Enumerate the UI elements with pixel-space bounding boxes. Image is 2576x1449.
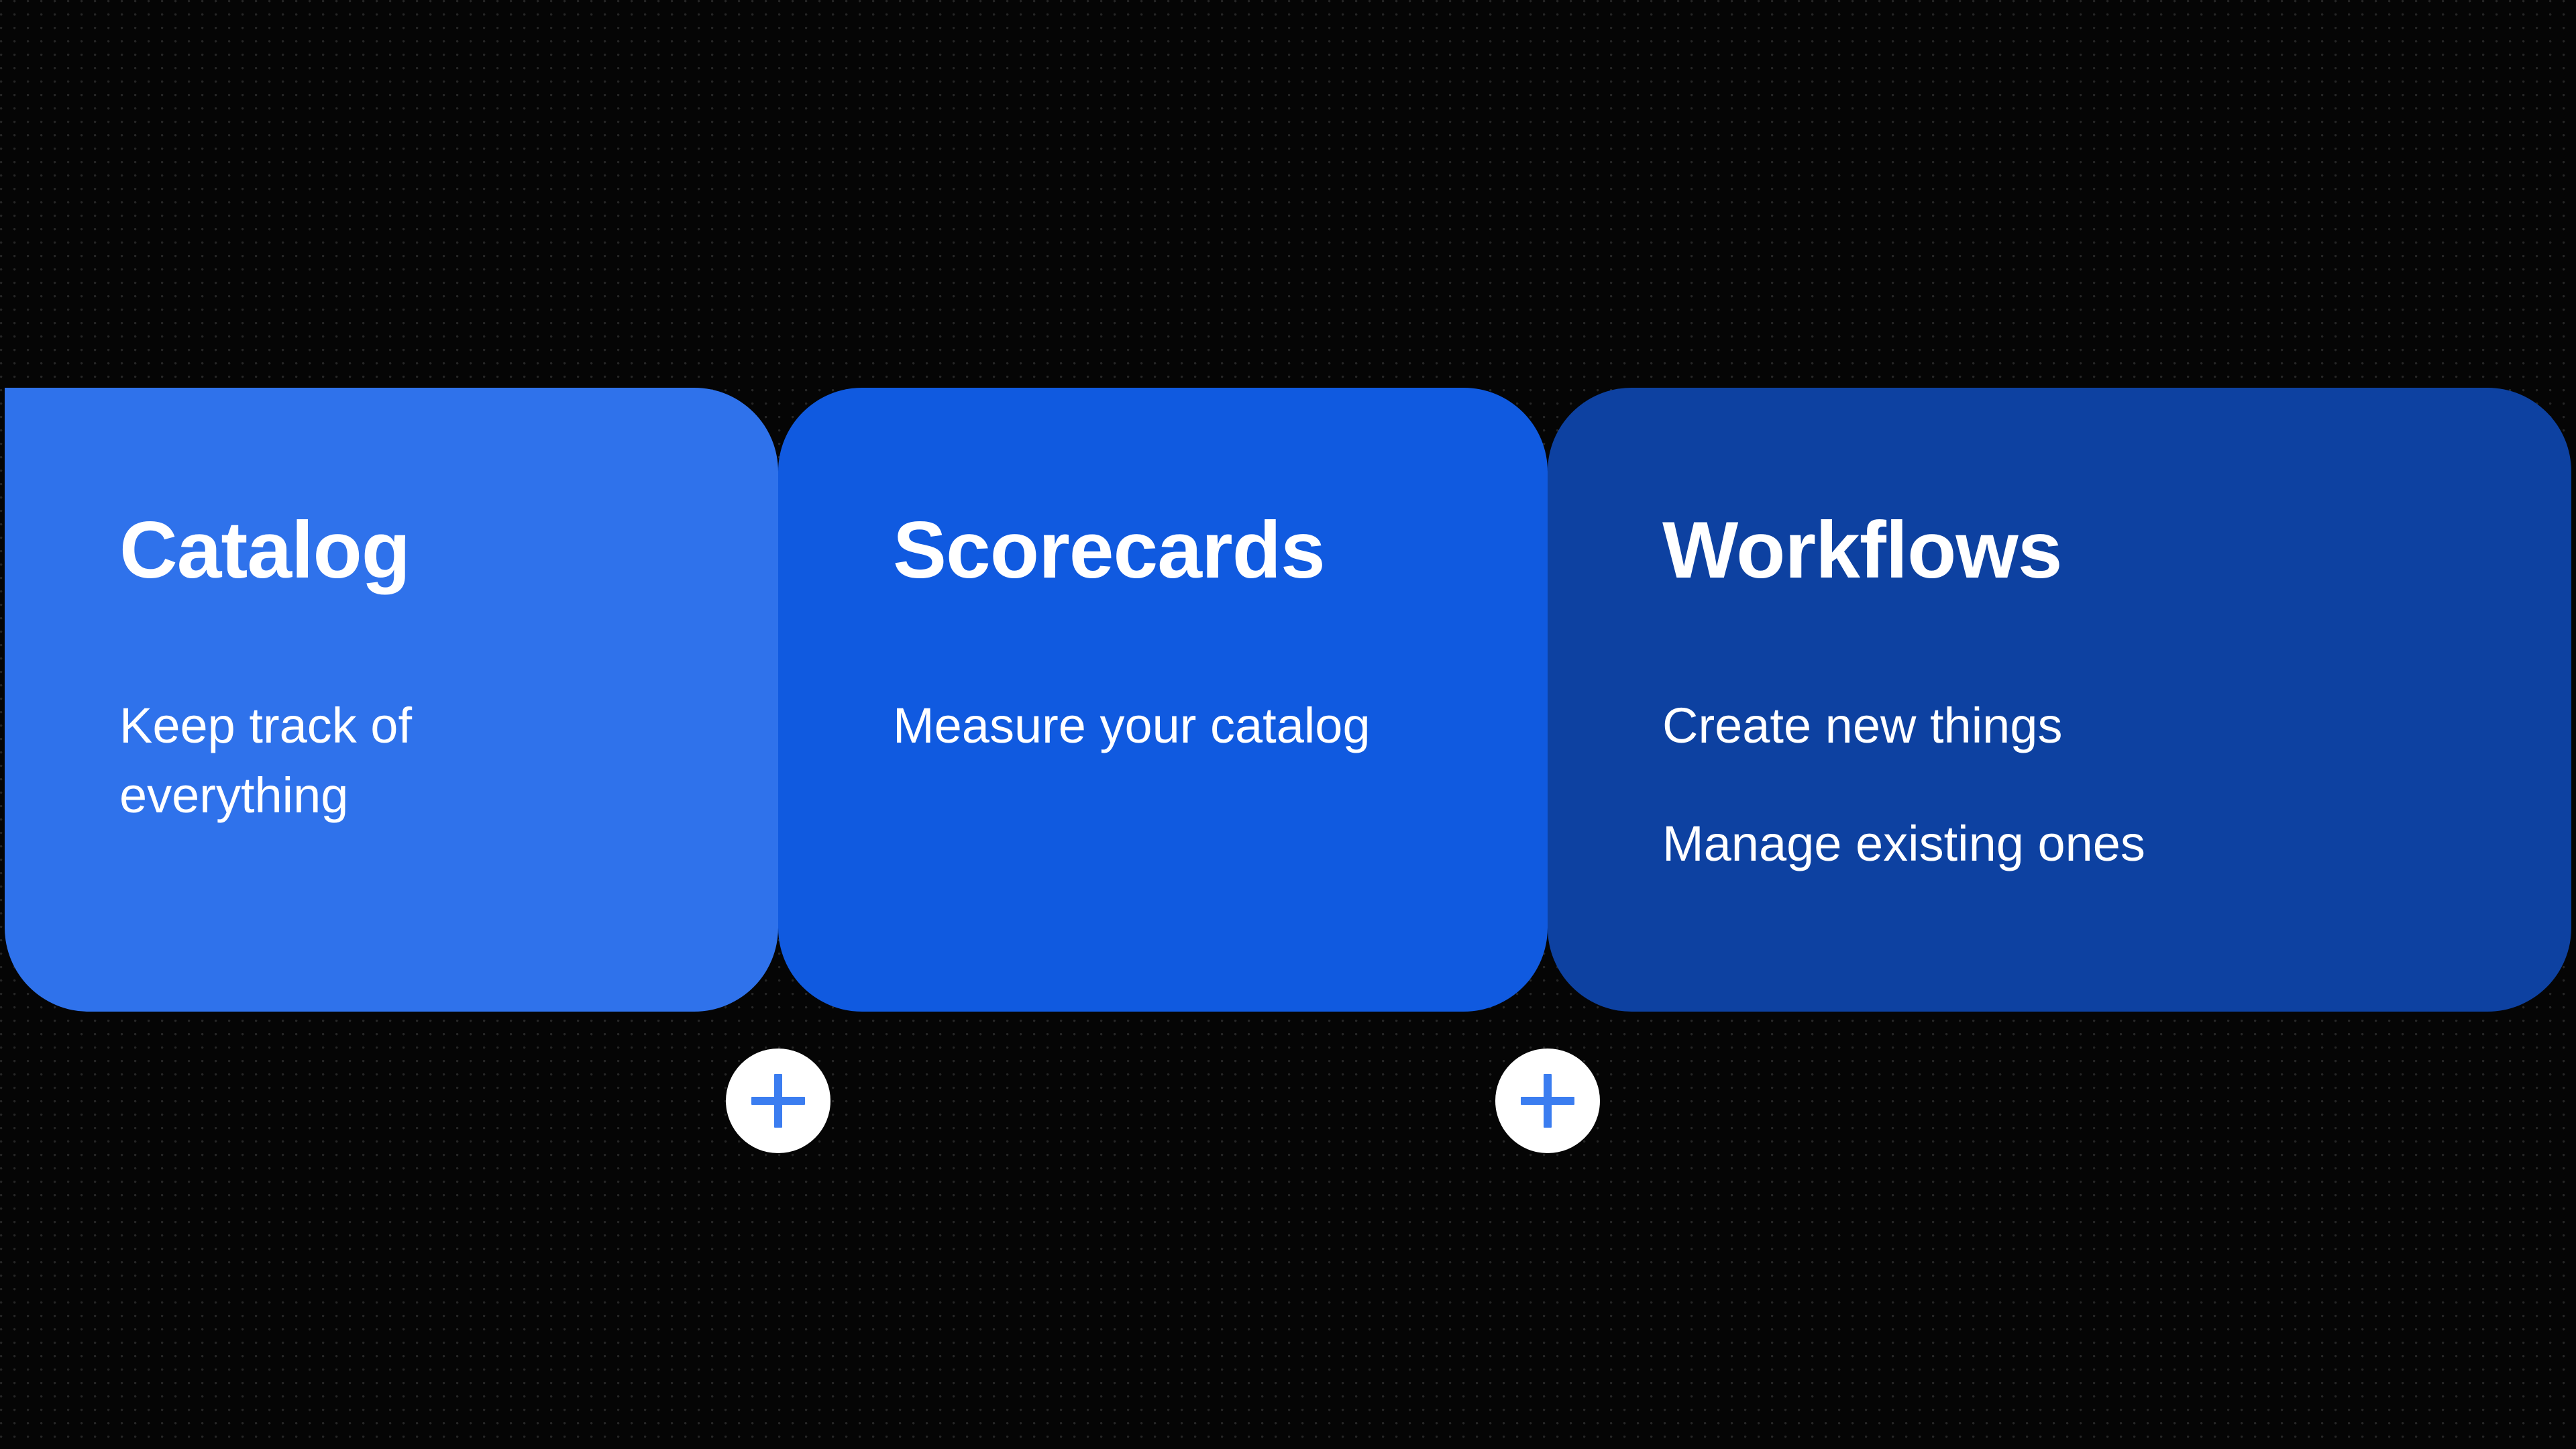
card-workflows[interactable]: Workflows Create new things Manage exist… [1548, 388, 2571, 1012]
connector-scorecards-workflows[interactable] [1495, 1049, 1600, 1153]
card-scorecards-title: Scorecards [893, 510, 1325, 590]
card-catalog-title: Catalog [119, 510, 410, 590]
card-scorecards[interactable]: Scorecards Measure your catalog [778, 388, 1548, 1012]
card-workflows-description-line-2: Manage existing ones [1662, 809, 2400, 879]
card-catalog[interactable]: Catalog Keep track of everything [5, 388, 778, 1012]
diagram-canvas: Catalog Keep track of everything Scoreca… [0, 0, 2576, 1449]
capability-cards-row: Catalog Keep track of everything Scoreca… [0, 388, 2576, 1012]
card-workflows-title: Workflows [1662, 510, 2062, 590]
card-workflows-description-line-1: Create new things [1662, 691, 2400, 761]
connector-catalog-scorecards[interactable] [726, 1049, 830, 1153]
card-catalog-description: Keep track of everything [119, 691, 535, 830]
plus-icon [751, 1074, 805, 1128]
card-scorecards-description: Measure your catalog [893, 691, 1497, 761]
plus-icon [1521, 1074, 1574, 1128]
